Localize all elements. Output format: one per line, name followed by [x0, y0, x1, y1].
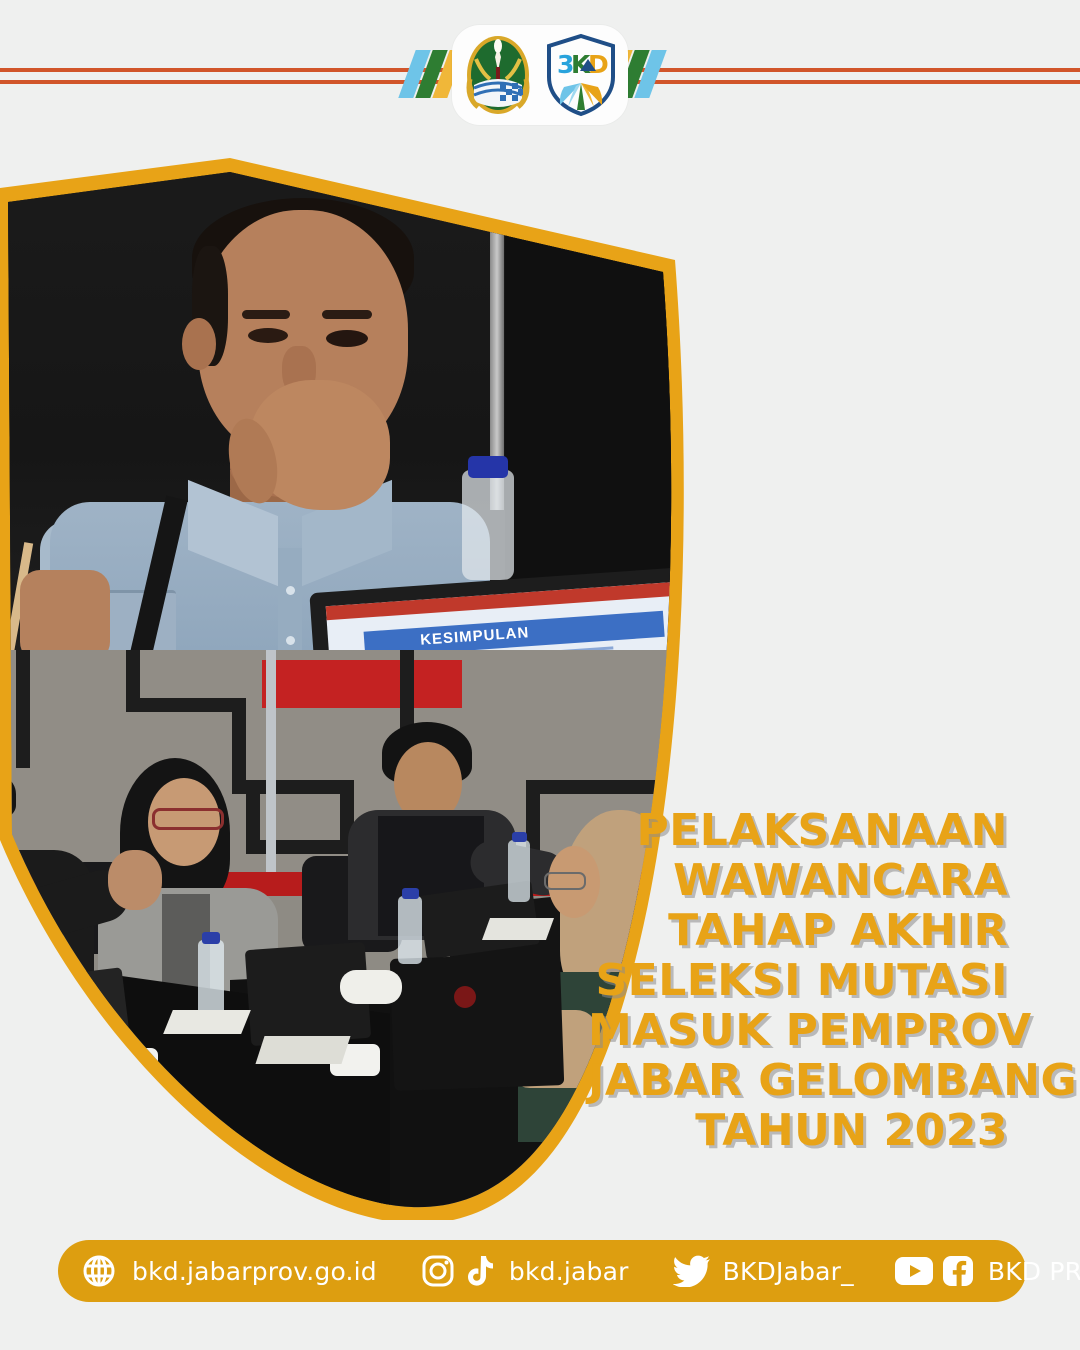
title-line-1: PELAKSANAAN: [588, 806, 1008, 856]
footer-website-label: bkd.jabarprov.go.id: [132, 1257, 377, 1286]
bottle-cap: [468, 456, 508, 478]
shirt-button: [286, 636, 295, 645]
shield-photo-frame: KESIMPULAN: [0, 150, 690, 1220]
header-rule-right-bottom: [634, 80, 1080, 84]
wall-graphic-line: [126, 698, 246, 712]
footer-youtube-facebook[interactable]: BKD PROV JABAR: [894, 1255, 1080, 1287]
eyeglasses: [152, 808, 224, 830]
slide-title-bar: KESIMPULAN: [364, 611, 665, 650]
person-eye: [326, 330, 368, 347]
tiktok-icon: [463, 1254, 493, 1288]
wall-accent-red: [262, 660, 462, 708]
shirt-button: [286, 586, 295, 595]
wall-panel: [505, 150, 690, 580]
bottle-cap: [202, 932, 220, 944]
paper-document: [163, 1010, 251, 1034]
footer-facebook-label: BKD PROV JABAR: [988, 1257, 1080, 1286]
header-rule-left-bottom: [0, 80, 446, 84]
title-line-2: WAWANCARA: [588, 856, 1008, 906]
wall-graphic-line: [246, 840, 354, 854]
paper-document: [482, 918, 554, 940]
person-eye: [248, 328, 288, 343]
footer-twitter[interactable]: BKDJabar_: [673, 1255, 854, 1287]
shield-photo-clip: KESIMPULAN: [0, 150, 690, 1220]
title-line-5: MASUK PEMPROV: [588, 1006, 1008, 1056]
person-arm: [20, 570, 110, 650]
globe-icon: [82, 1254, 116, 1288]
title-line-3: TAHAP AKHIR: [588, 906, 1008, 956]
water-bottle: [508, 840, 530, 902]
footer-website[interactable]: bkd.jabarprov.go.id: [82, 1254, 377, 1288]
person-ear: [182, 318, 216, 370]
bottle-cap: [402, 888, 419, 899]
poster-title: PELAKSANAAN WAWANCARA TAHAP AKHIR SELEKS…: [588, 806, 1008, 1156]
person-hand: [108, 850, 162, 910]
footer-instagram-tiktok[interactable]: bkd.jabar: [421, 1254, 629, 1288]
footer-instagram-label: bkd.jabar: [509, 1257, 629, 1286]
header: 3 K D: [0, 0, 1080, 145]
photo-interviewer-closeup: KESIMPULAN: [0, 150, 690, 650]
jabar-provincial-emblem-icon: [462, 33, 534, 117]
water-bottle: [198, 940, 224, 1016]
instagram-icon: [421, 1254, 455, 1288]
logo-plate: 3 K D: [452, 25, 628, 125]
header-rule-right-top: [634, 68, 1080, 72]
person-eyebrow: [242, 310, 290, 319]
footer-twitter-label: BKDJabar_: [723, 1257, 854, 1286]
eyeglasses: [544, 872, 586, 890]
person-eyebrow: [322, 310, 372, 319]
youtube-icon: [894, 1256, 934, 1286]
title-line-7: TAHUN 2023: [588, 1106, 1008, 1156]
laptop: [390, 953, 565, 1091]
wall-graphic-line: [246, 780, 354, 794]
water-bottle: [462, 470, 514, 580]
twitter-icon: [673, 1255, 711, 1287]
face-mask: [340, 970, 402, 1004]
wall-graphic-line: [232, 698, 246, 794]
slide-title-text: KESIMPULAN: [364, 611, 665, 650]
shirt-placket: [278, 548, 302, 650]
header-rule-left-top: [0, 68, 446, 72]
wall-graphic-line: [16, 650, 30, 768]
bottle-cap: [512, 832, 527, 842]
title-line-6: JABAR GELOMBANG 2: [588, 1056, 1008, 1106]
paper-document: [255, 1036, 350, 1064]
pole: [266, 650, 276, 880]
social-footer-bar: bkd.jabarprov.go.id bkd.jabar: [58, 1240, 1026, 1302]
bkd-logo-icon: 3 K D: [544, 33, 618, 117]
poster-canvas: 3 K D: [0, 0, 1080, 1350]
water-bottle: [398, 896, 422, 964]
facebook-icon: [942, 1255, 974, 1287]
photo-interview-room: [0, 650, 690, 1220]
title-line-4: SELEKSI MUTASI: [588, 956, 1008, 1006]
laptop-logo: [454, 986, 476, 1008]
